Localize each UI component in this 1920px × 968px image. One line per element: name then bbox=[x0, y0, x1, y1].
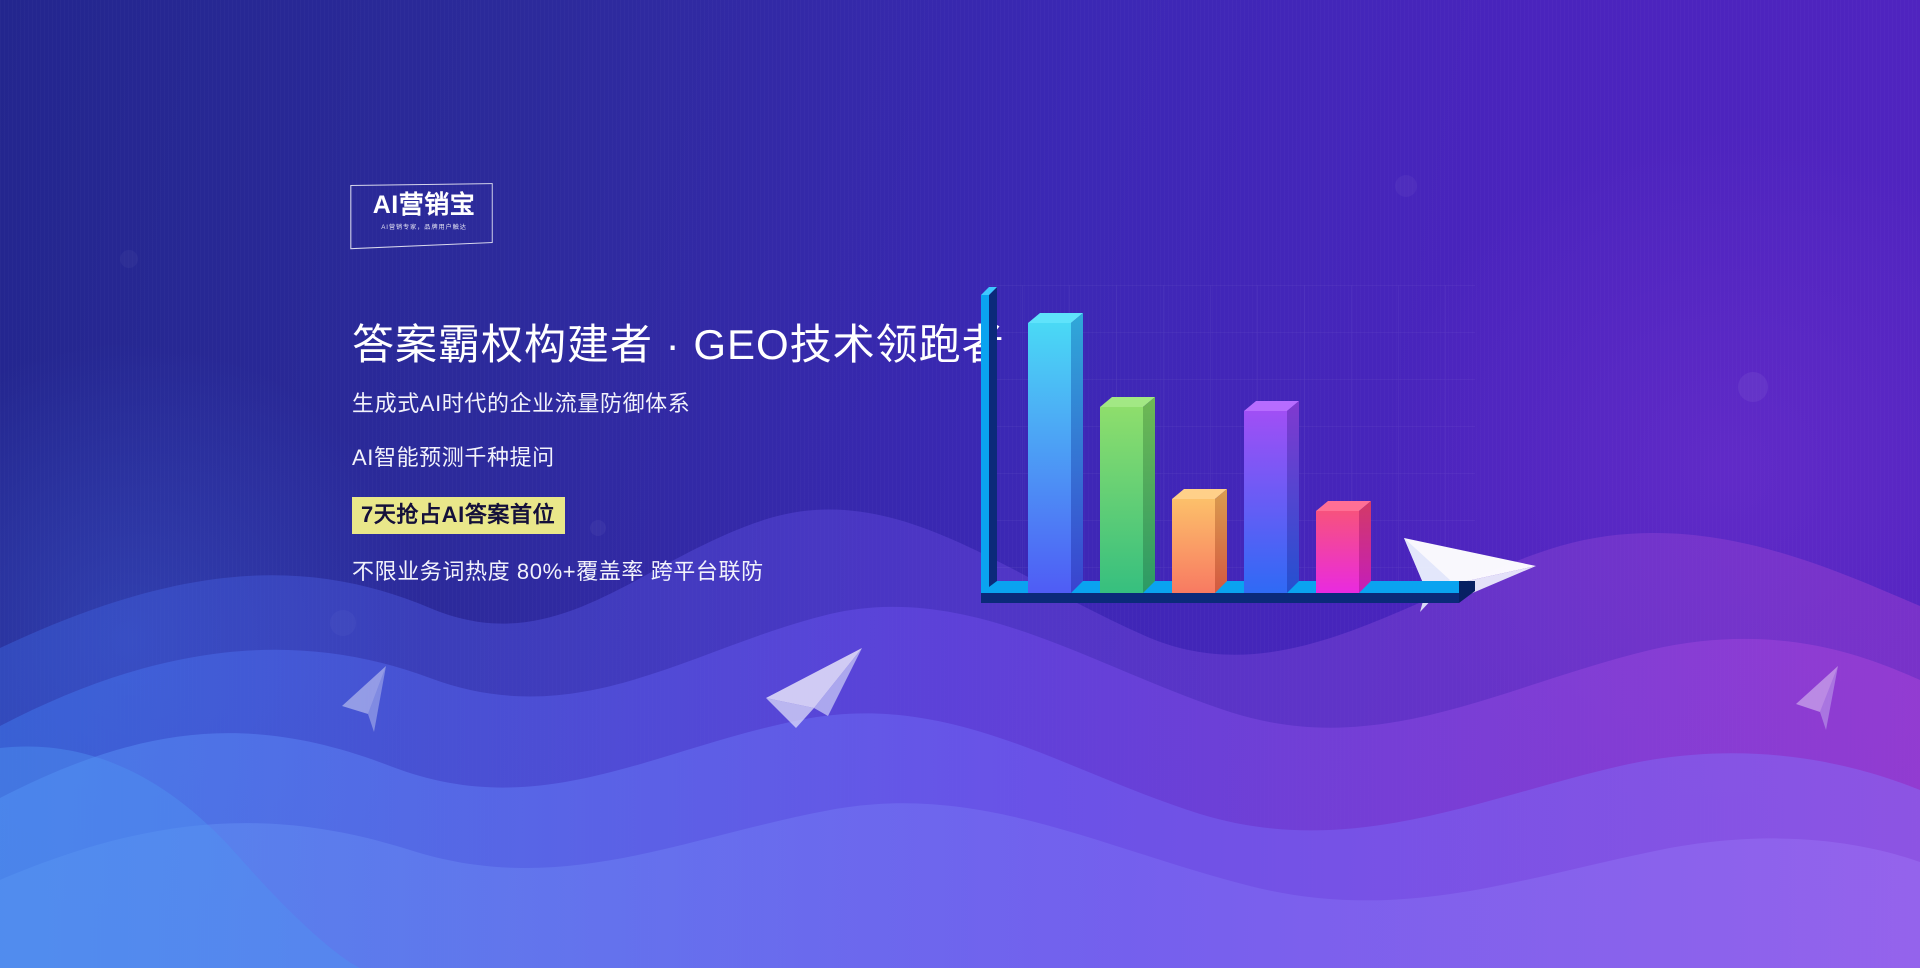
highlight-badge: 7天抢占AI答案首位 bbox=[352, 497, 565, 534]
logo-wordmark: AI营销宝 bbox=[352, 193, 496, 218]
paper-plane-icon-small-left bbox=[334, 662, 408, 740]
chart-y-axis bbox=[981, 287, 997, 593]
bar-chart-illustration bbox=[975, 285, 1475, 675]
decor-circle-5 bbox=[120, 250, 138, 268]
paper-plane-icon-small-right bbox=[1788, 662, 1856, 738]
chart-bar-4 bbox=[1244, 401, 1299, 593]
hero-banner: AI营销宝 AI营销专家，品牌用户触达 答案霸权构建者 · GEO技术领跑者 生… bbox=[0, 0, 1920, 968]
paper-plane-icon-mid bbox=[762, 642, 880, 742]
decor-circle-3 bbox=[1395, 175, 1417, 197]
chart-bar-3 bbox=[1172, 489, 1227, 593]
brand-logo[interactable]: AI营销宝 AI营销专家，品牌用户触达 bbox=[352, 184, 496, 246]
chart-bar-2 bbox=[1100, 397, 1155, 593]
chart-bar-5 bbox=[1316, 501, 1371, 593]
logo-tagline: AI营销专家，品牌用户触达 bbox=[352, 225, 496, 231]
chart-bar-1 bbox=[1028, 313, 1083, 593]
decor-circle-4 bbox=[1738, 372, 1768, 402]
